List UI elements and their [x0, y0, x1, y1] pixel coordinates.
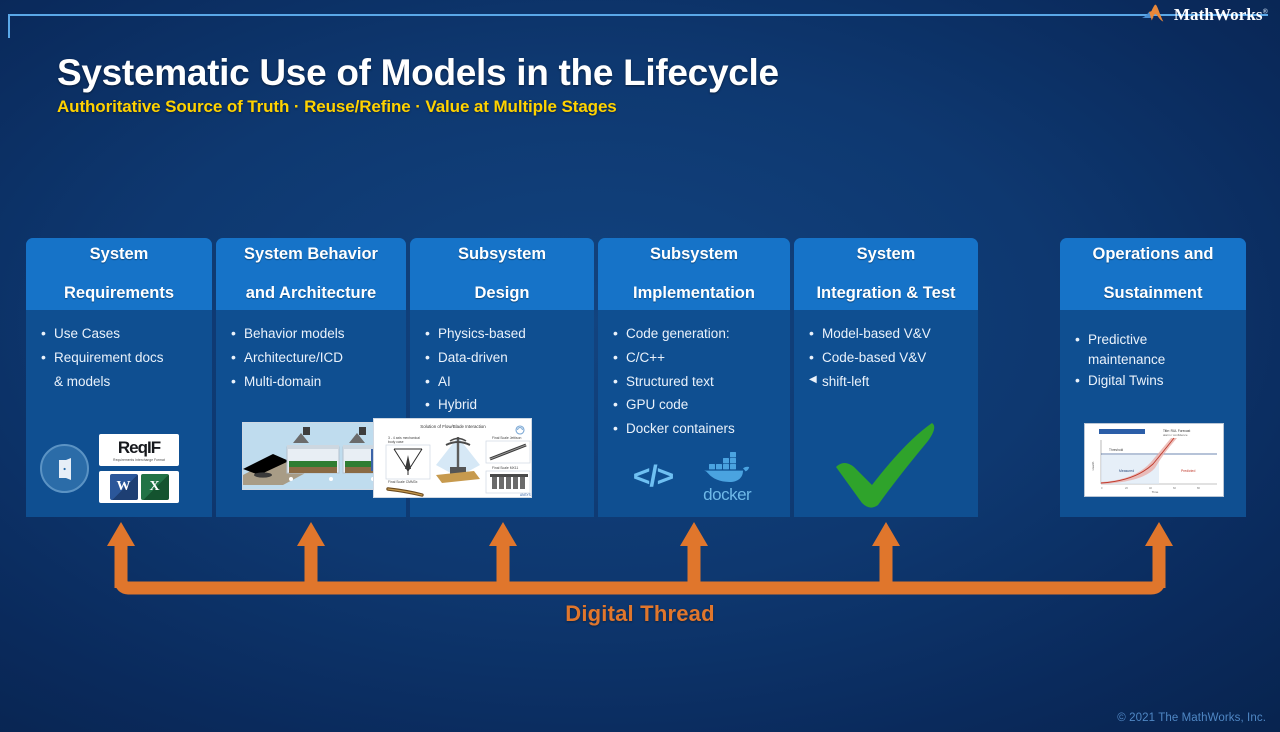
- mathworks-membrane-icon: [1141, 4, 1167, 26]
- bullet-item: Model-based V&V: [808, 322, 968, 346]
- stage-header: System Behavior and Architecture: [216, 238, 406, 310]
- bullet-item: Multi-domain: [230, 370, 396, 394]
- predictive-chart-image: Title: RUL Forecast alarm / confidence T…: [1085, 424, 1223, 496]
- stage-title-line2: Design: [458, 284, 546, 303]
- stage-column-system-requirements[interactable]: System Requirements Use Cases Requiremen…: [26, 238, 212, 517]
- stage-bullet-list: Predictivemaintenance Digital Twins: [1074, 330, 1236, 393]
- top-accent-line: [8, 14, 1268, 38]
- stage-title-line1: Subsystem: [458, 245, 546, 264]
- stage-body: Code generation: C/C++ Structured text G…: [598, 310, 790, 517]
- bullet-item: Code generation:: [612, 322, 780, 346]
- bullet-item: Behavior models: [230, 322, 396, 346]
- bullet-item: Structured text: [612, 370, 780, 394]
- bullet-item: AI: [424, 370, 584, 394]
- stage-column-subsystem-implementation[interactable]: Subsystem Implementation Code generation…: [598, 238, 790, 517]
- bullet-item: Physics-based: [424, 322, 584, 346]
- reqif-icon-stack: ReqIF Requirements Interchange Format W …: [99, 434, 179, 503]
- bullet-item: Predictivemaintenance: [1074, 330, 1236, 369]
- bullet-item-shift-left: shift-left: [808, 370, 968, 394]
- stage-body: Model-based V&V Code-based V&V shift-lef…: [794, 310, 978, 517]
- door-glyph: [53, 457, 77, 481]
- bullet-text: Requirement docs: [54, 350, 164, 365]
- stage-bullet-list: Physics-based Data-driven AI Hybrid: [424, 322, 584, 417]
- bullet-item: Use Cases: [40, 322, 202, 346]
- reqif-req-text: Req: [118, 438, 147, 457]
- stage-bullet-list: Model-based V&V Code-based V&V shift-lef…: [808, 322, 968, 393]
- docker-icon: docker: [699, 451, 755, 503]
- excel-icon: X: [141, 474, 169, 500]
- stage-body: Behavior models Architecture/ICD Multi-d…: [216, 310, 406, 517]
- bullet-item: Architecture/ICD: [230, 346, 396, 370]
- requirements-tools-icons: ReqIF Requirements Interchange Format W …: [40, 434, 179, 503]
- stage-title-line2: Sustainment: [1092, 284, 1213, 303]
- bullet-item: Digital Twins: [1074, 369, 1236, 393]
- stage-column-system-behavior-and-architecture[interactable]: System Behavior and Architecture Behavio…: [216, 238, 406, 517]
- stage-header: System Requirements: [26, 238, 212, 310]
- bullet-item: GPU code: [612, 393, 780, 417]
- bullet-text-cont: & models: [54, 374, 110, 389]
- stage-title-line1: Operations and: [1092, 245, 1213, 264]
- bullet-item: Docker containers: [612, 417, 780, 441]
- bullet-item: C/C++: [612, 346, 780, 370]
- reqif-subtitle: Requirements Interchange Format: [113, 458, 165, 462]
- bullet-text: Predictive: [1088, 332, 1147, 347]
- svg-text:Predicted: Predicted: [1181, 469, 1195, 473]
- stage-header: Subsystem Implementation: [598, 238, 790, 310]
- predictive-maintenance-chart-thumbnail: Title: RUL Forecast alarm / confidence T…: [1084, 423, 1224, 497]
- implementation-icons: </> docker: [598, 451, 790, 503]
- stage-title-line2: Implementation: [633, 284, 755, 303]
- bullet-item: Code-based V&V: [808, 346, 968, 370]
- svg-text:Time: Time: [1152, 490, 1159, 494]
- svg-text:Threshold: Threshold: [1109, 448, 1123, 452]
- stage-column-operations-and-sustainment[interactable]: Operations and Sustainment Predictivemai…: [1060, 238, 1246, 517]
- copyright-notice: © 2021 The MathWorks, Inc.: [1117, 712, 1266, 724]
- svg-text:Measured: Measured: [1119, 469, 1134, 473]
- accent-line-vertical: [8, 14, 10, 38]
- docker-wordmark: docker: [703, 486, 751, 503]
- stage-title-line1: Subsystem: [633, 245, 755, 264]
- stage-title-line2: Requirements: [64, 284, 174, 303]
- stage-title-line2: and Architecture: [244, 284, 378, 303]
- bullet-item: Requirement docs& models: [40, 346, 202, 394]
- stage-body: Use Cases Requirement docs& models ReqIF…: [26, 310, 212, 517]
- stage-column-system-integration-and-test[interactable]: System Integration & Test Model-based V&…: [794, 238, 978, 517]
- check-glyph: [828, 415, 944, 511]
- stage-column-subsystem-design[interactable]: Subsystem Design Physics-based Data-driv…: [410, 238, 594, 517]
- mathworks-logo: MathWorks®: [1141, 4, 1268, 26]
- stage-body: Predictivemaintenance Digital Twins Titl…: [1060, 310, 1246, 517]
- stage-bullet-list: Code generation: C/C++ Structured text G…: [612, 322, 780, 441]
- page-subtitle: Authoritative Source of Truth · Reuse/Re…: [57, 97, 617, 117]
- stage-title-line1: System: [816, 245, 955, 264]
- stage-title-line1: System: [64, 245, 174, 264]
- stage-title-line2: Integration & Test: [816, 284, 955, 303]
- bullet-item: Data-driven: [424, 346, 584, 370]
- mathworks-wordmark: MathWorks®: [1174, 5, 1268, 25]
- office-docs-icons: W X: [99, 471, 179, 503]
- stage-bullet-list: Behavior models Architecture/ICD Multi-d…: [230, 322, 396, 393]
- stage-body: Physics-based Data-driven AI Hybrid: [410, 310, 594, 517]
- page-title: Systematic Use of Models in the Lifecycl…: [57, 52, 779, 94]
- green-check-icon: [794, 415, 978, 511]
- bullet-item: Hybrid: [424, 393, 584, 417]
- reqif-logo: ReqIF Requirements Interchange Format: [99, 434, 179, 466]
- registered-mark: ®: [1263, 7, 1268, 15]
- code-brackets-icon: </>: [633, 462, 673, 492]
- stage-title-line1: System Behavior: [244, 245, 378, 264]
- stage-bullet-list: Use Cases Requirement docs& models: [40, 322, 202, 393]
- word-icon: W: [110, 474, 138, 500]
- thread-arrowheads: [107, 522, 1173, 546]
- svg-text:alarm / confidence: alarm / confidence: [1163, 433, 1188, 437]
- accent-line-horizontal: [8, 14, 1268, 16]
- svg-text:Health: Health: [1091, 461, 1095, 470]
- stage-header: Operations and Sustainment: [1060, 238, 1246, 310]
- stage-header: Subsystem Design: [410, 238, 594, 310]
- digital-thread-label: Digital Thread: [0, 601, 1280, 627]
- docker-whale-glyph: [699, 451, 755, 485]
- reqif-if-text: IF: [147, 438, 160, 457]
- stage-header: System Integration & Test: [794, 238, 978, 310]
- bullet-text-cont: maintenance: [1088, 352, 1165, 367]
- doors-requirements-icon: [40, 444, 89, 493]
